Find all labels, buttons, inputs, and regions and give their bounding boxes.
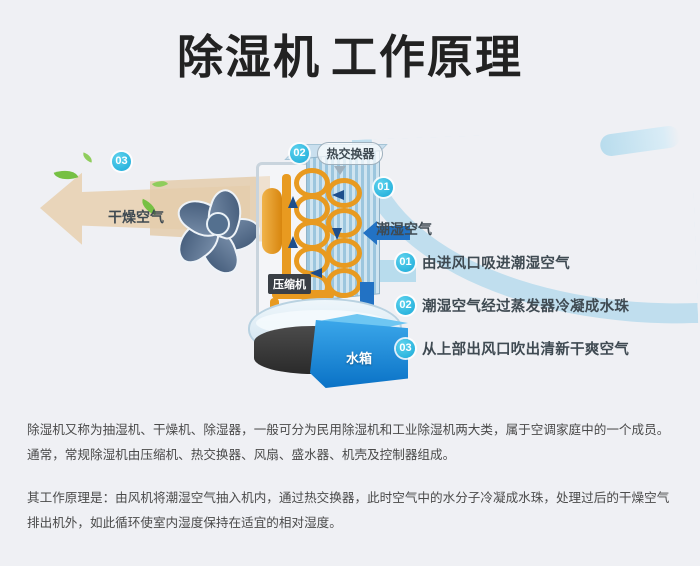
page-title-part2: 工作原理 <box>331 31 523 83</box>
step-badge-02: 02 <box>396 296 415 315</box>
callout-dry-air: 03 干燥空气 <box>112 152 164 227</box>
callout-pointer-icon <box>334 166 346 175</box>
receiver-tank <box>262 188 282 254</box>
fan-hub <box>206 212 230 236</box>
callout-humid-air: 01 潮湿空气 <box>374 178 432 239</box>
step-badge-01: 01 <box>396 253 415 272</box>
steps-list: 01 由进风口吸进潮湿空气 02 潮湿空气经过蒸发器冷凝成水珠 03 从上部出风… <box>396 252 686 381</box>
refrigerant-pipe <box>282 174 291 286</box>
flow-arrow-icon <box>332 190 344 200</box>
flow-arrow-icon <box>332 228 342 240</box>
description-paragraph-2: 其工作原理是：由风机将潮湿空气抽入机内，通过热交换器，此时空气中的水分子冷凝成水… <box>27 486 677 536</box>
description-block: 除湿机又称为抽湿机、干燥机、除湿器，一般可分为民用除湿机和工业除湿机两大类，属于… <box>27 418 677 554</box>
water-tank-label: 水箱 <box>346 348 372 367</box>
step-text-02: 潮湿空气经过蒸发器冷凝成水珠 <box>422 295 629 316</box>
callout-label-heat-exchanger: 热交换器 <box>317 142 383 165</box>
coil-loop <box>326 238 362 268</box>
callout-heat-exchanger: 02 热交换器 <box>290 142 383 165</box>
callout-badge-02: 02 <box>290 144 309 163</box>
step-badge-03: 03 <box>396 339 415 358</box>
flow-arrow-icon <box>310 268 322 278</box>
step-item-03: 03 从上部出风口吹出清新干爽空气 <box>396 338 686 359</box>
leaf-icon <box>81 152 94 162</box>
step-item-01: 01 由进风口吸进潮湿空气 <box>396 252 686 273</box>
flow-arrow-icon <box>288 196 298 208</box>
flow-arrow-icon <box>288 236 298 248</box>
description-paragraph-1: 除湿机又称为抽湿机、干燥机、除湿器，一般可分为民用除湿机和工业除湿机两大类，属于… <box>27 418 677 468</box>
step-text-01: 由进风口吸进潮湿空气 <box>422 252 570 273</box>
callout-badge-01: 01 <box>374 178 393 197</box>
callout-label-dry-air: 干燥空气 <box>108 207 164 227</box>
callout-badge-03: 03 <box>112 152 131 171</box>
step-item-02: 02 潮湿空气经过蒸发器冷凝成水珠 <box>396 295 686 316</box>
callout-label-humid-air: 潮湿空气 <box>376 219 432 239</box>
step-text-03: 从上部出风口吹出清新干爽空气 <box>422 338 629 359</box>
page-title-part1: 除湿机 <box>177 31 321 83</box>
compressor-label: 压缩机 <box>268 274 311 294</box>
page-title: 除湿机工作原理 <box>0 34 700 80</box>
